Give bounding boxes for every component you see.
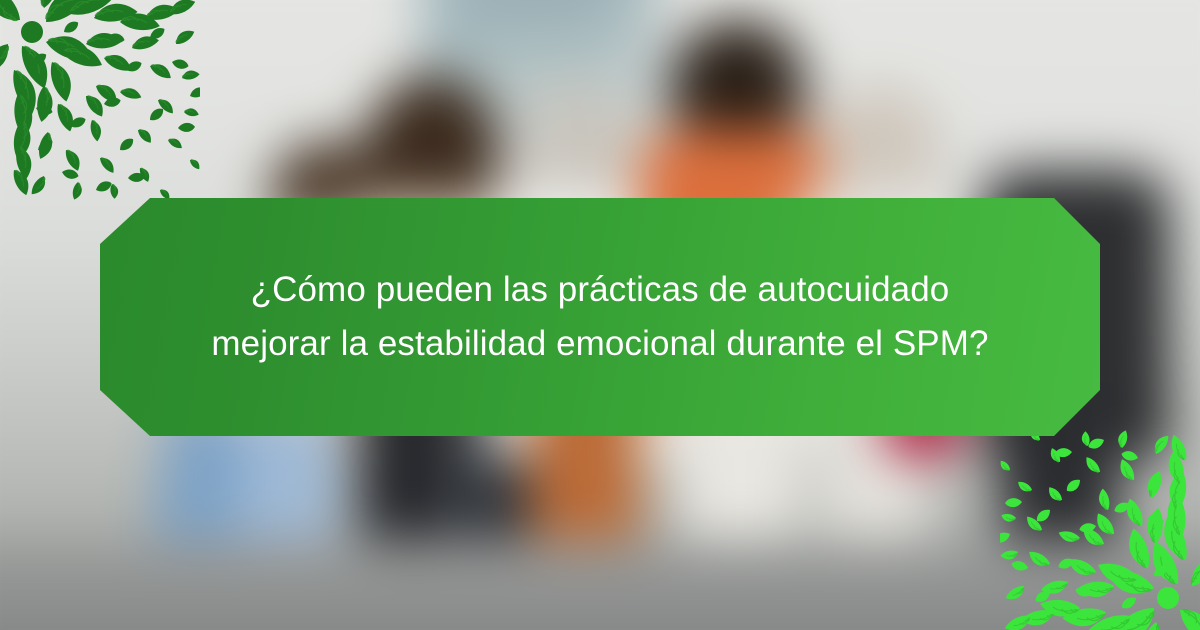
- headline-text: ¿Cómo pueden las prácticas de autocuidad…: [100, 263, 1100, 371]
- floor: [0, 540, 1200, 630]
- social-card: ¿Cómo pueden las prácticas de autocuidad…: [0, 0, 1200, 630]
- headline-banner: ¿Cómo pueden las prácticas de autocuidad…: [100, 198, 1100, 436]
